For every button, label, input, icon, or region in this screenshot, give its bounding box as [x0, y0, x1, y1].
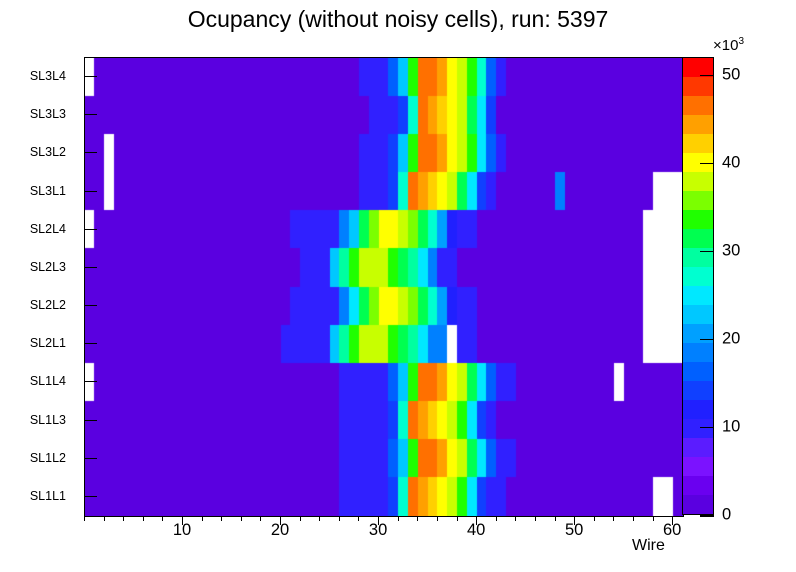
x-axis-label-40: 40 — [467, 521, 485, 540]
y-axis-tick — [85, 343, 97, 344]
y-axis-label-sl2l4: SL2L4 — [30, 222, 66, 236]
colorbar-band — [683, 210, 713, 229]
x-axis-label-60: 60 — [663, 521, 681, 540]
chart-title: Ocupancy (without noisy cells), run: 539… — [0, 6, 796, 33]
x-axis-minor-tick — [241, 516, 242, 521]
x-axis-minor-tick — [202, 516, 203, 521]
x-axis-minor-tick — [162, 516, 163, 521]
colorbar-tick — [700, 339, 714, 341]
colorbar-band — [683, 286, 713, 305]
x-axis-minor-tick — [613, 516, 614, 521]
x-axis-minor-tick — [594, 516, 595, 521]
y-axis-tick — [85, 191, 97, 192]
y-axis-label-sl2l3: SL2L3 — [30, 260, 66, 274]
y-axis-label-sl1l2: SL1L2 — [30, 451, 66, 465]
y-axis-tick — [85, 496, 97, 497]
y-axis-label-sl3l2: SL3L2 — [30, 145, 66, 159]
colorbar-gradient — [683, 58, 713, 514]
y-axis: SL3L4SL3L3SL3L2SL3L1SL2L4SL2L3SL2L2SL2L1… — [0, 57, 80, 515]
plot-area — [84, 57, 684, 517]
y-axis-label-sl2l1: SL2L1 — [30, 336, 66, 350]
y-axis-tick — [85, 420, 97, 421]
x-axis-minor-tick — [221, 516, 222, 521]
y-axis-tick — [85, 458, 97, 459]
colorbar-band — [683, 381, 713, 400]
x-axis-minor-tick — [653, 516, 654, 521]
x-axis-minor-tick — [319, 516, 320, 521]
colorbar-exponent-base: ×10 — [713, 37, 738, 54]
colorbar-exponent-power: 3 — [738, 36, 744, 47]
x-axis: 102030405060 — [84, 516, 684, 556]
y-axis-tick — [85, 229, 97, 230]
colorbar-band — [683, 96, 713, 115]
x-axis-minor-tick — [457, 516, 458, 521]
colorbar-band — [683, 191, 713, 210]
colorbar-label-40: 40 — [722, 153, 740, 172]
y-axis-label-sl2l2: SL2L2 — [30, 298, 66, 312]
x-axis-minor-tick — [300, 516, 301, 521]
colorbar-exponent-label: ×103 — [713, 36, 744, 54]
x-axis-minor-tick — [515, 516, 516, 521]
colorbar-band — [683, 438, 713, 457]
colorbar-band — [683, 115, 713, 134]
x-axis-minor-tick — [555, 516, 556, 521]
colorbar-band — [683, 77, 713, 96]
colorbar-band — [683, 495, 713, 514]
colorbar-band — [683, 134, 713, 153]
y-axis-tick — [85, 76, 97, 77]
heatmap-image — [85, 58, 683, 516]
y-axis-label-sl3l4: SL3L4 — [30, 69, 66, 83]
colorbar-tick — [700, 515, 714, 517]
colorbar-tick — [700, 251, 714, 253]
colorbar-band — [683, 172, 713, 191]
y-axis-label-sl1l1: SL1L1 — [30, 489, 66, 503]
colorbar-tick — [700, 75, 714, 77]
colorbar-label-30: 30 — [722, 241, 740, 260]
colorbar-band — [683, 229, 713, 248]
x-axis-label-20: 20 — [271, 521, 289, 540]
x-axis-minor-tick — [358, 516, 359, 521]
y-axis-tick — [85, 114, 97, 115]
x-axis-minor-tick — [535, 516, 536, 521]
y-axis-label-sl1l3: SL1L3 — [30, 413, 66, 427]
colorbar-tick — [700, 427, 714, 429]
y-axis-tick — [85, 381, 97, 382]
colorbar-band — [683, 400, 713, 419]
colorbar-band — [683, 343, 713, 362]
chart-canvas: Ocupancy (without noisy cells), run: 539… — [0, 0, 796, 572]
y-axis-tick — [85, 267, 97, 268]
x-axis-label-10: 10 — [173, 521, 191, 540]
y-axis-label-sl3l1: SL3L1 — [30, 184, 66, 198]
colorbar-label-20: 20 — [722, 329, 740, 348]
colorbar-band — [683, 305, 713, 324]
colorbar — [682, 57, 714, 515]
x-axis-minor-tick — [143, 516, 144, 521]
x-axis-minor-tick — [633, 516, 634, 521]
colorbar-tick — [700, 163, 714, 165]
x-axis-minor-tick — [398, 516, 399, 521]
y-axis-label-sl3l3: SL3L3 — [30, 107, 66, 121]
x-axis-minor-tick — [104, 516, 105, 521]
x-axis-minor-tick — [339, 516, 340, 521]
x-axis-minor-tick — [260, 516, 261, 521]
y-axis-tick — [85, 305, 97, 306]
colorbar-label-0: 0 — [722, 506, 731, 525]
x-axis-minor-tick — [496, 516, 497, 521]
y-axis-tick — [85, 152, 97, 153]
colorbar-band — [683, 267, 713, 286]
x-axis-minor-tick — [437, 516, 438, 521]
colorbar-label-50: 50 — [722, 65, 740, 84]
x-axis-title: Wire — [632, 537, 665, 555]
colorbar-band — [683, 457, 713, 476]
x-axis-label-30: 30 — [369, 521, 387, 540]
colorbar-band — [683, 476, 713, 495]
colorbar-band — [683, 362, 713, 381]
y-axis-label-sl1l4: SL1L4 — [30, 374, 66, 388]
x-axis-minor-tick — [417, 516, 418, 521]
colorbar-band — [683, 419, 713, 438]
x-axis-minor-tick — [123, 516, 124, 521]
colorbar-label-10: 10 — [722, 417, 740, 436]
x-axis-label-50: 50 — [565, 521, 583, 540]
x-axis-minor-tick — [84, 516, 85, 521]
